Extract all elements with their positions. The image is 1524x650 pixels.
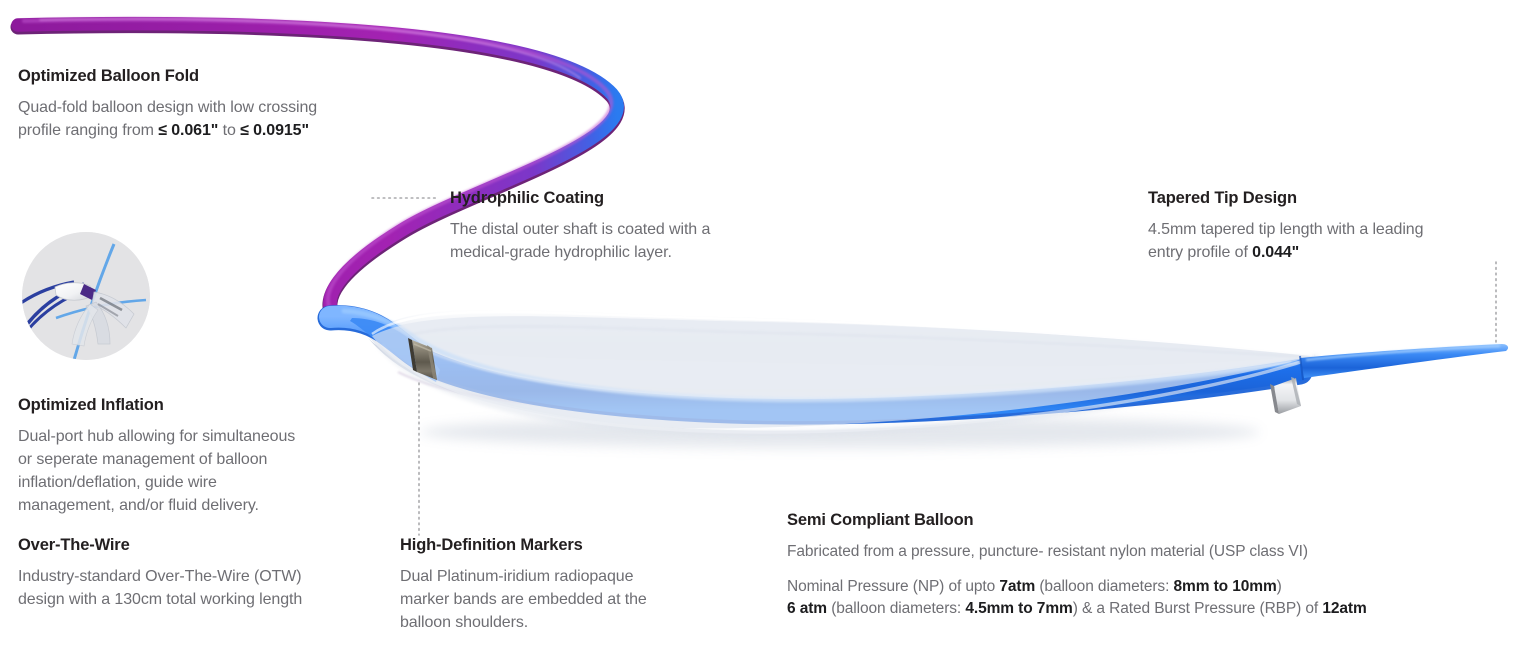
callout-body: Dual Platinum-iridium radiopaque marker … [400,566,730,634]
callout-semi-compliant-balloon: Semi Compliant Balloon Fabricated from a… [787,510,1517,620]
crossing-profile-max: ≤ 0.0915" [240,122,309,139]
callout-tapered-tip-design: Tapered Tip Design 4.5mm tapered tip len… [1148,188,1518,265]
body-line-1: Industry-standard Over-The-Wire (OTW) [18,568,301,585]
hub-photo-graphic [22,232,150,360]
body-line-3: inflation/deflation, guide wire [18,474,217,491]
callout-body-material: Fabricated from a pressure, puncture- re… [787,541,1517,563]
body-line-1: Quad-fold balloon design with low crossi… [18,99,317,116]
callout-optimized-inflation: Optimized Inflation Dual-port hub allowi… [18,395,390,517]
body-line-1: Fabricated from a pressure, puncture- re… [787,543,1308,560]
body-line-2: or seperate management of balloon [18,451,267,468]
rbp-label: ) & a Rated Burst Pressure (RBP) of [1073,600,1323,617]
np-diam-range: 8mm to 10mm [1174,578,1277,595]
np-close: ) [1277,578,1282,595]
hub-photo-inset [22,232,150,360]
device-infographic: Optimized Balloon Fold Quad-fold balloon… [0,0,1524,650]
tapered-tip [1300,344,1508,380]
callout-title: Semi Compliant Balloon [787,510,1517,531]
marker-band-distal [1270,377,1301,414]
callout-title: Over-The-Wire [18,535,390,556]
callout-body: 4.5mm tapered tip length with a leading … [1148,219,1518,264]
body-line-2-mid: to [218,122,240,139]
body-line-1: 4.5mm tapered tip length with a leading [1148,221,1423,238]
body-line-2-pre: entry profile of [1148,244,1252,261]
crossing-profile-min: ≤ 0.061" [158,122,218,139]
callout-title: Optimized Balloon Fold [18,66,418,87]
callout-body: Dual-port hub allowing for simultaneous … [18,426,390,517]
callout-title: Tapered Tip Design [1148,188,1518,209]
callout-body: The distal outer shaft is coated with a … [450,219,790,264]
entry-profile-value: 0.044" [1252,244,1299,261]
np-diam-label: (balloon diameters: [1035,578,1173,595]
body-line-2: marker bands are embedded at the [400,591,647,608]
body-line-1: Dual Platinum-iridium radiopaque [400,568,633,585]
spacer [787,563,1517,576]
callout-body: Quad-fold balloon design with low crossi… [18,97,418,142]
marker-band-proximal [408,338,437,380]
body-line-4: management, and/or fluid delivery. [18,497,259,514]
np-diam-range-2: 4.5mm to 7mm [965,600,1072,617]
balloon-overlay [372,312,1316,432]
np-diam-label-2: (balloon diameters: [827,600,965,617]
np-value-low: 6 atm [787,600,827,617]
callout-title: High-Definition Markers [400,535,730,556]
callout-hydrophilic-coating: Hydrophilic Coating The distal outer sha… [450,188,790,265]
body-line-2-pre: profile ranging from [18,122,158,139]
np-label: Nominal Pressure (NP) of upto [787,578,999,595]
callout-high-definition-markers: High-Definition Markers Dual Platinum-ir… [400,535,730,635]
body-line-3: balloon shoulders. [400,614,528,631]
callout-over-the-wire: Over-The-Wire Industry-standard Over-The… [18,535,390,612]
body-line-1: The distal outer shaft is coated with a [450,221,710,238]
rbp-value: 12atm [1322,600,1366,617]
balloon-body [368,310,1318,434]
np-value: 7atm [999,578,1035,595]
callout-optimized-balloon-fold: Optimized Balloon Fold Quad-fold balloon… [18,66,418,143]
callout-body: Industry-standard Over-The-Wire (OTW) de… [18,566,390,611]
distal-shaft [330,311,1300,412]
callout-title: Hydrophilic Coating [450,188,790,209]
body-line-1: Dual-port hub allowing for simultaneous [18,428,295,445]
body-line-2: design with a 130cm total working length [18,591,302,608]
callout-body-pressures: Nominal Pressure (NP) of upto 7atm (ball… [787,576,1517,620]
callout-title: Optimized Inflation [18,395,390,416]
body-line-2: medical-grade hydrophilic layer. [450,244,672,261]
